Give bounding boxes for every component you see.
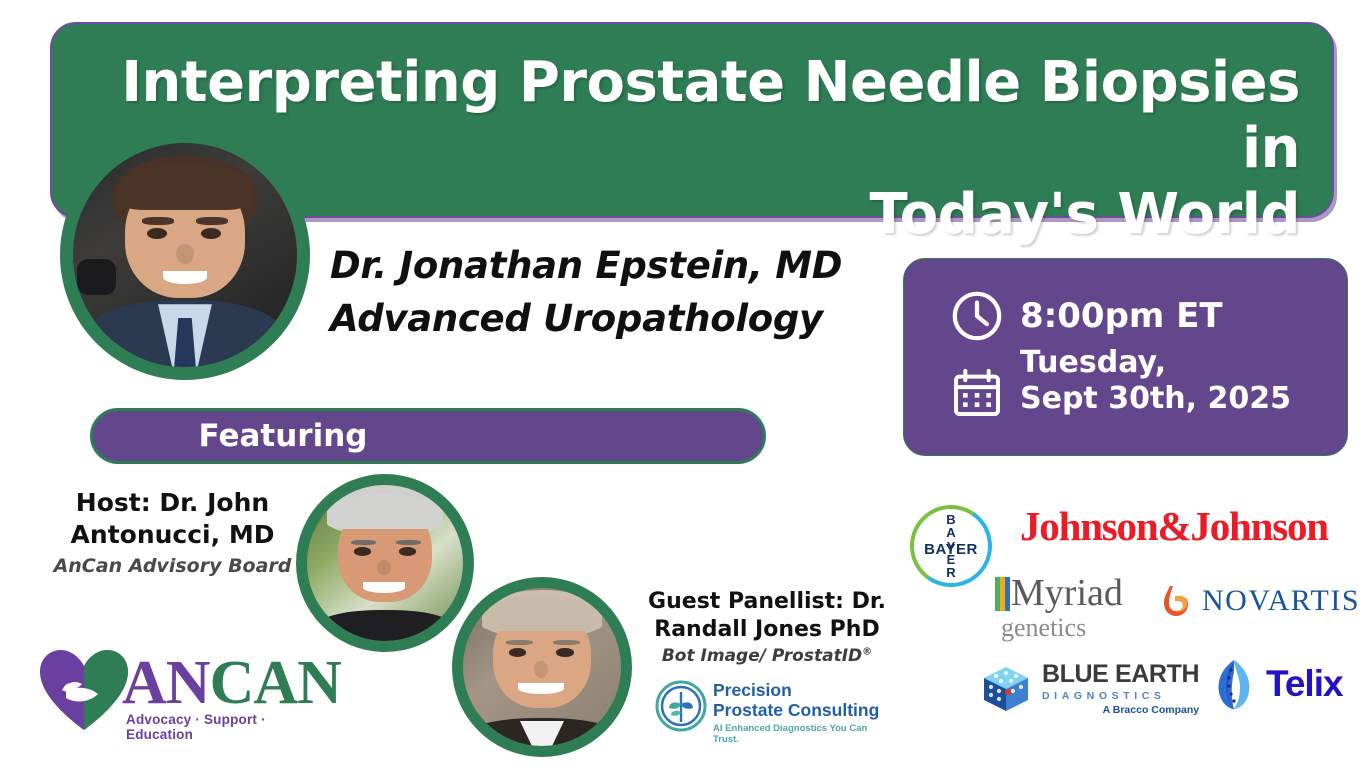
guest-subtitle: Bot Image/ ProstatID® — [638, 646, 896, 666]
guest-portrait-jones — [452, 577, 632, 757]
speaker-info: Dr. Jonathan Epstein, MD Advanced Uropat… — [330, 240, 890, 345]
novartis-flame-icon — [1162, 584, 1190, 618]
bayer-horizontal-text: BAYER — [918, 541, 984, 558]
telix-logo: Telix — [1210, 658, 1343, 710]
myriad-subtext: genetics — [1001, 613, 1123, 643]
speaker-portrait-epstein — [60, 130, 310, 380]
speaker-name: Dr. Jonathan Epstein, MD — [330, 240, 890, 293]
novartis-logo: NOVARTIS — [1162, 584, 1360, 618]
host-name-line-2: Antonucci, MD — [40, 519, 305, 551]
blue-earth-name: BLUE EARTH — [1042, 662, 1199, 687]
guest-info: Guest Panellist: Dr. Randall Jones PhD B… — [638, 588, 896, 666]
host-name-line-1: Host: Dr. John — [40, 487, 305, 519]
precision-line-1: Precision — [713, 680, 885, 700]
schedule-time: 8:00pm ET — [1020, 296, 1291, 337]
clock-icon — [949, 288, 1005, 349]
blue-earth-sub: DIAGNOSTICS — [1042, 690, 1199, 702]
myriad-bars-icon — [995, 577, 1010, 611]
schedule-icons — [934, 288, 1020, 426]
ancan-tagline: Advocacy · Support · Education — [126, 712, 304, 742]
host-portrait-antonucci — [296, 474, 474, 652]
featuring-label: Featuring — [199, 418, 368, 454]
blue-earth-cube-icon — [980, 663, 1032, 715]
telix-wordmark: Telix — [1266, 663, 1343, 705]
precision-line-2: Prostate Consulting — [713, 700, 885, 720]
host-info: Host: Dr. John Antonucci, MD AnCan Advis… — [40, 487, 305, 577]
precision-prostate-consulting-logo: Precision Prostate Consulting AI Enhance… — [655, 678, 885, 740]
ancan-wordmark: ANCAN — [122, 648, 341, 719]
schedule-date: Sept 30th, 2025 — [1020, 381, 1291, 418]
novartis-wordmark: NOVARTIS — [1202, 584, 1360, 618]
guest-name-line-2: Randall Jones PhD — [638, 616, 896, 644]
schedule-day: Tuesday, — [1020, 345, 1291, 382]
myriad-wordmark: Myriad — [1011, 576, 1123, 611]
speaker-affiliation: Advanced Uropathology — [330, 293, 890, 346]
calendar-icon — [949, 365, 1005, 426]
schedule-card: 8:00pm ET Tuesday, Sept 30th, 2025 — [903, 258, 1348, 456]
blue-earth-diagnostics-logo: BLUE EARTH DIAGNOSTICS A Bracco Company — [980, 662, 1199, 716]
johnson-and-johnson-logo: Johnson&Johnson — [1020, 502, 1328, 550]
myriad-genetics-logo: Myriad genetics — [995, 576, 1123, 643]
ancan-an: AN — [122, 649, 210, 717]
sponsor-logos: BAYER BAYER Johnson&Johnson Myriad genet… — [900, 480, 1362, 750]
schedule-texts: 8:00pm ET Tuesday, Sept 30th, 2025 — [1020, 296, 1291, 418]
bayer-logo: BAYER BAYER — [910, 505, 992, 587]
telix-helix-icon — [1210, 658, 1258, 710]
featuring-banner: Featuring — [90, 408, 766, 464]
webinar-flyer: Interpreting Prostate Needle Biopsies in… — [0, 0, 1366, 768]
blue-earth-parent: A Bracco Company — [1042, 704, 1199, 716]
registered-mark: ® — [862, 646, 872, 657]
blue-earth-text: BLUE EARTH DIAGNOSTICS A Bracco Company — [1042, 662, 1199, 716]
ancan-logo: ANCAN Advocacy · Support · Education — [36, 642, 304, 738]
guest-name-line-1: Guest Panellist: Dr. — [638, 588, 896, 616]
host-subtitle: AnCan Advisory Board — [40, 555, 305, 577]
ancan-can: CAN — [210, 649, 341, 717]
precision-text: Precision Prostate Consulting AI Enhance… — [713, 680, 885, 745]
precision-tagline: AI Enhanced Diagnostics You Can Trust. — [713, 723, 885, 745]
